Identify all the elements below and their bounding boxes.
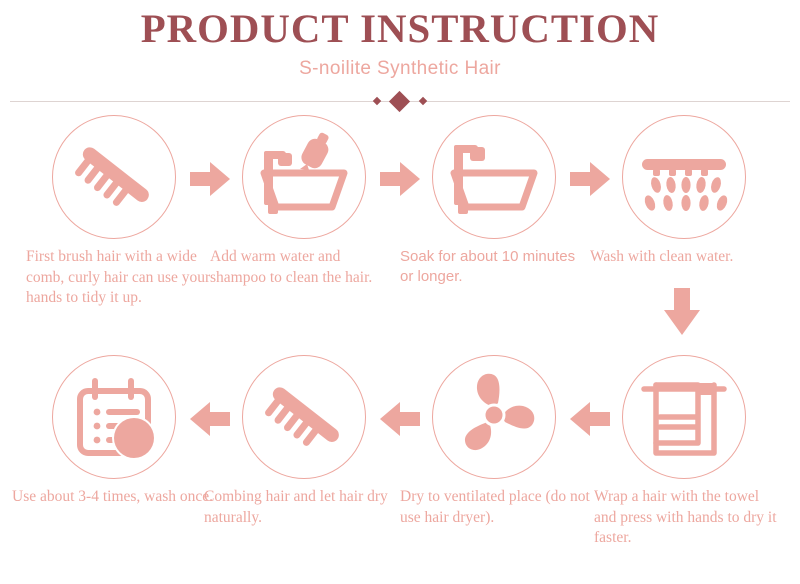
arrow-step4-to-step5 — [662, 288, 702, 343]
infographic-page: PRODUCT INSTRUCTION S-noilite Synthetic … — [0, 0, 800, 584]
step-8-caption: Use about 3-4 times, wash once. — [12, 487, 217, 508]
arrow-step5-to-step6 — [570, 400, 612, 438]
comb-icon — [52, 115, 176, 239]
arrow-step3-to-step4 — [570, 160, 612, 198]
arrow-step7-to-step8 — [190, 400, 232, 438]
bathtub-icon — [432, 115, 556, 239]
arrow-step2-to-step3 — [380, 160, 422, 198]
step-4-caption: Wash with clean water. — [590, 247, 780, 268]
step-3-caption: Soak for about 10 minutes or longer. — [400, 247, 590, 287]
arrow-step1-to-step2 — [190, 160, 232, 198]
shower-head-icon — [622, 115, 746, 239]
arrow-step6-to-step7 — [380, 400, 422, 438]
step-6-caption: Dry to ventilated place (do not use hair… — [400, 487, 590, 528]
diamond-divider — [0, 92, 800, 112]
calendar-checklist-icon — [52, 355, 176, 479]
diamond-small-left-icon — [373, 97, 381, 105]
header: PRODUCT INSTRUCTION S-noilite Synthetic … — [0, 0, 800, 80]
step-5-caption: Wrap a hair with the towel and press wit… — [590, 487, 784, 549]
bathtub-shampoo-icon — [242, 115, 366, 239]
step-7-caption: Combing hair and let hair dry naturally. — [204, 487, 404, 528]
diamond-small-right-icon — [419, 97, 427, 105]
step-2-caption: Add warm water and shampoo to clean the … — [210, 247, 400, 288]
towel-rail-icon — [622, 355, 746, 479]
page-subtitle: S-noilite Synthetic Hair — [0, 49, 800, 80]
comb-icon — [242, 355, 366, 479]
step-1-caption: First brush hair with a wide comb, curly… — [20, 247, 216, 309]
diamond-large-icon — [389, 91, 410, 112]
page-title: PRODUCT INSTRUCTION — [0, 0, 800, 49]
fan-icon — [432, 355, 556, 479]
